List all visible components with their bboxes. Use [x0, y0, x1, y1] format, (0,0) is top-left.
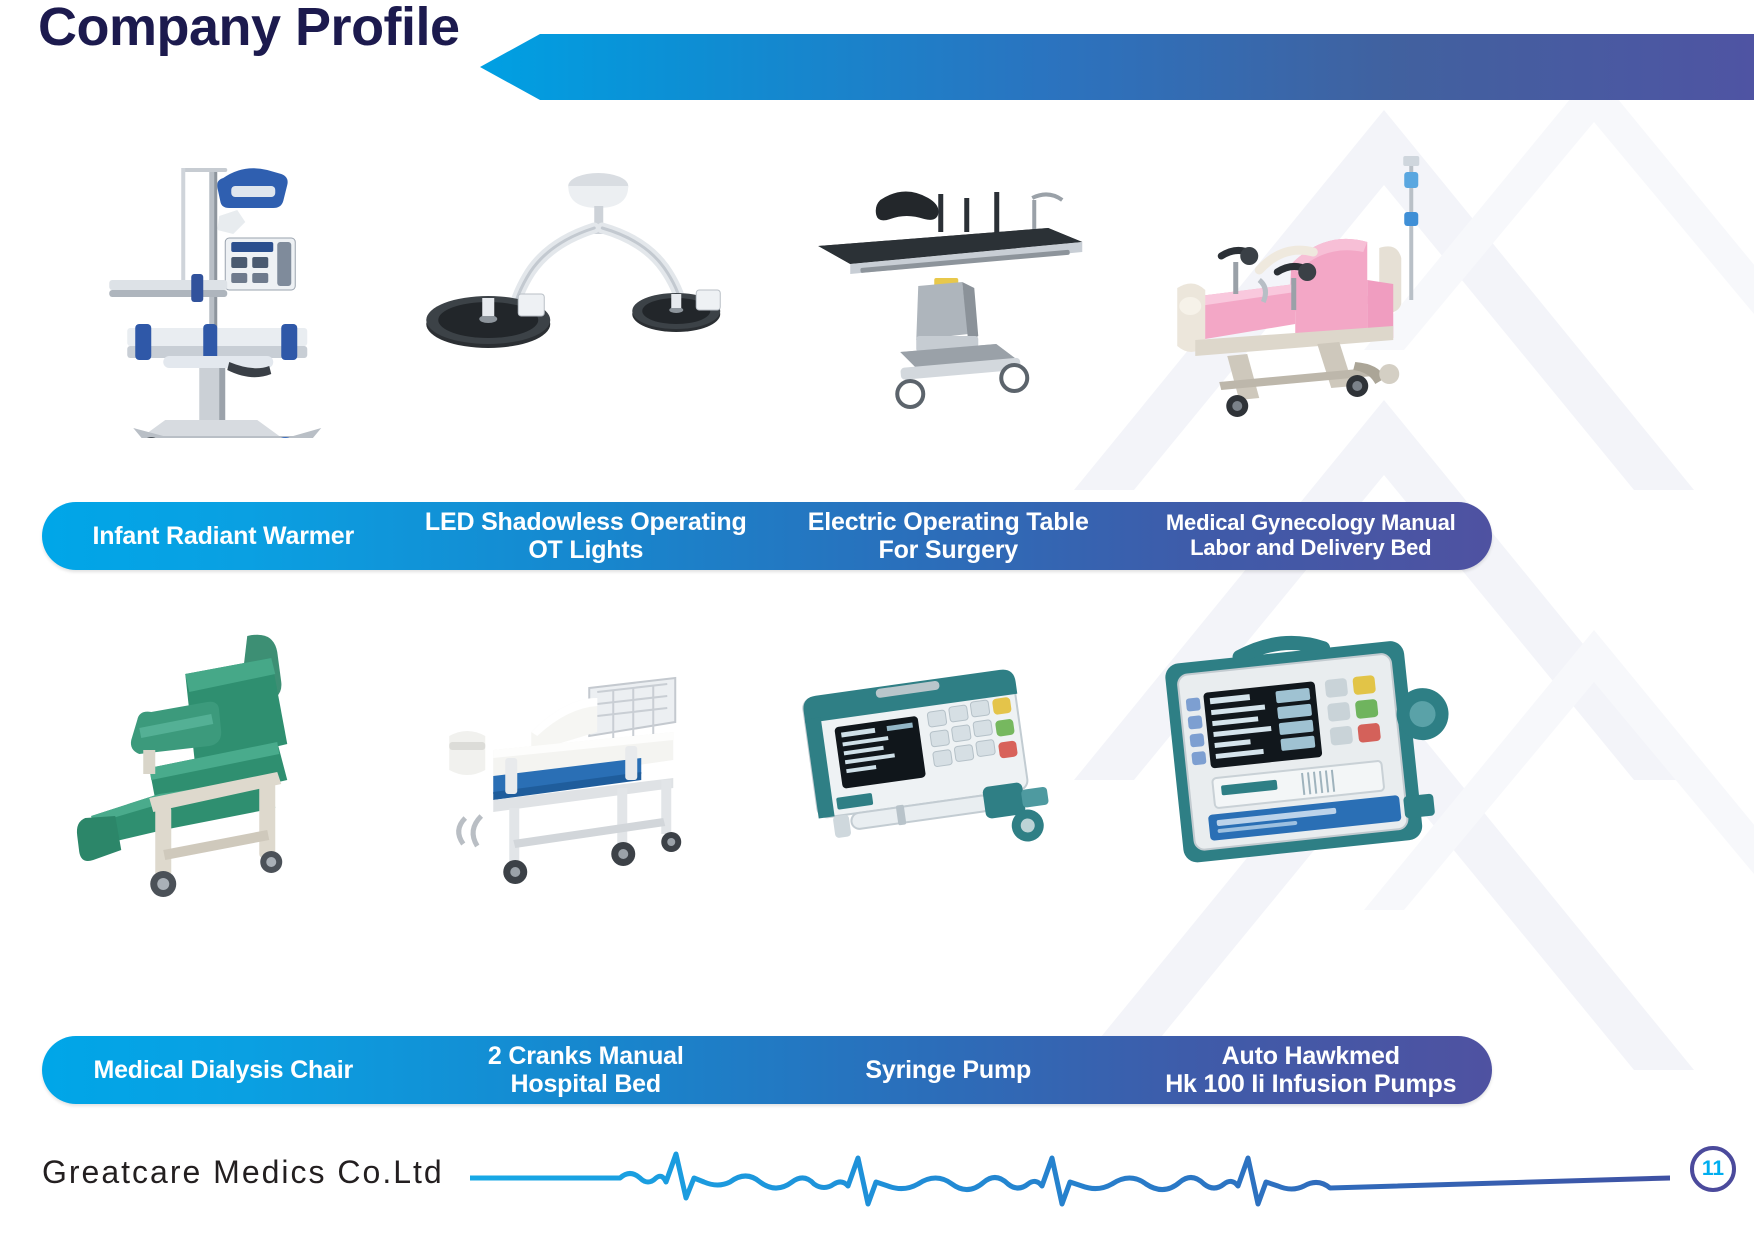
label-auto-hawkmed-infusion-pump: Auto Hawkmed Hk 100 Ii Infusion Pumps [1130, 1042, 1493, 1098]
header-arrow-banner [480, 34, 1754, 100]
label-line-2: OT Lights [411, 536, 762, 564]
product-image-two-crank-hospital-bed [405, 600, 768, 920]
label-gynecology-delivery-bed: Medical Gynecology Manual Labor and Deli… [1130, 511, 1493, 560]
label-line-2: For Surgery [773, 536, 1124, 564]
label-two-crank-hospital-bed: 2 Cranks Manual Hospital Bed [405, 1042, 768, 1098]
product-image-gynecology-delivery-bed [1130, 128, 1493, 438]
label-infant-radiant-warmer: Infant Radiant Warmer [42, 522, 405, 550]
label-line-1: 2 Cranks Manual [411, 1042, 762, 1070]
label-line-1: Auto Hawkmed [1136, 1042, 1487, 1070]
product-image-auto-hawkmed-infusion-pump [1130, 600, 1493, 920]
label-electric-operating-table: Electric Operating Table For Surgery [767, 508, 1130, 564]
label-line-2: Hospital Bed [411, 1070, 762, 1098]
label-line-2: Hk 100 Ii Infusion Pumps [1136, 1070, 1487, 1098]
page-number-badge: 11 [1690, 1146, 1736, 1192]
product-label-bar-row-2: Medical Dialysis Chair 2 Cranks Manual H… [42, 1036, 1492, 1104]
label-syringe-pump: Syringe Pump [767, 1056, 1130, 1084]
company-name: Greatcare Medics Co.Ltd [42, 1154, 444, 1191]
product-image-infant-radiant-warmer [42, 128, 405, 438]
product-image-medical-dialysis-chair [42, 600, 405, 920]
label-line-1: Electric Operating Table [773, 508, 1124, 536]
slide-root: Company Profile [0, 0, 1754, 1241]
product-image-row-1 [42, 128, 1492, 438]
product-image-led-ot-light [405, 128, 768, 438]
label-led-ot-light: LED Shadowless Operating OT Lights [405, 508, 768, 564]
product-image-electric-operating-table [767, 128, 1130, 438]
label-line-1: Medical Gynecology Manual [1136, 511, 1487, 536]
slide-footer: Greatcare Medics Co.Ltd 11 [0, 1116, 1754, 1241]
product-label-bar-row-1: Infant Radiant Warmer LED Shadowless Ope… [42, 502, 1492, 570]
product-image-row-2 [42, 600, 1492, 920]
page-title: Company Profile [38, 0, 460, 58]
label-line-1: LED Shadowless Operating [411, 508, 762, 536]
ecg-line-icon [470, 1130, 1670, 1218]
label-medical-dialysis-chair: Medical Dialysis Chair [42, 1056, 405, 1084]
label-line-2: Labor and Delivery Bed [1136, 536, 1487, 561]
product-image-syringe-pump [767, 600, 1130, 920]
